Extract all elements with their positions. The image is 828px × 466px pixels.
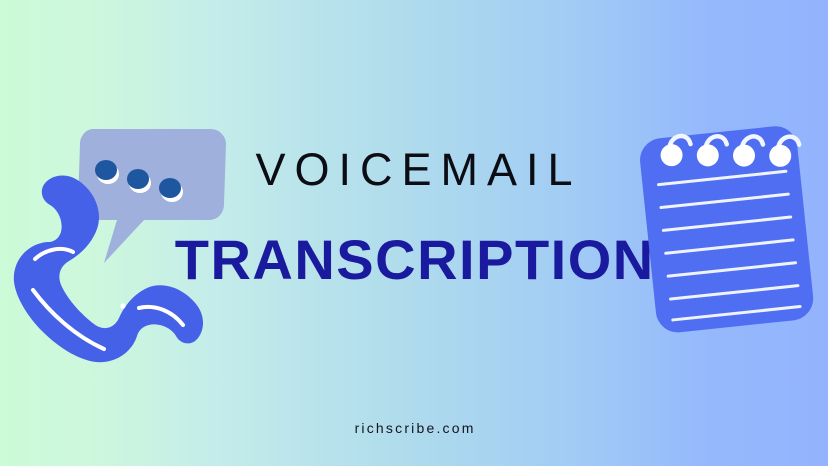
- voicemail-transcription-banner: VOICEMAIL TRANSCRIPTION richscribe.com: [0, 0, 828, 466]
- spiral-notepad-icon: [638, 124, 818, 335]
- spiral-notepad-illustration: [620, 108, 828, 358]
- footer-website-url: richscribe.com: [0, 418, 828, 438]
- notepad-svg: [620, 108, 828, 358]
